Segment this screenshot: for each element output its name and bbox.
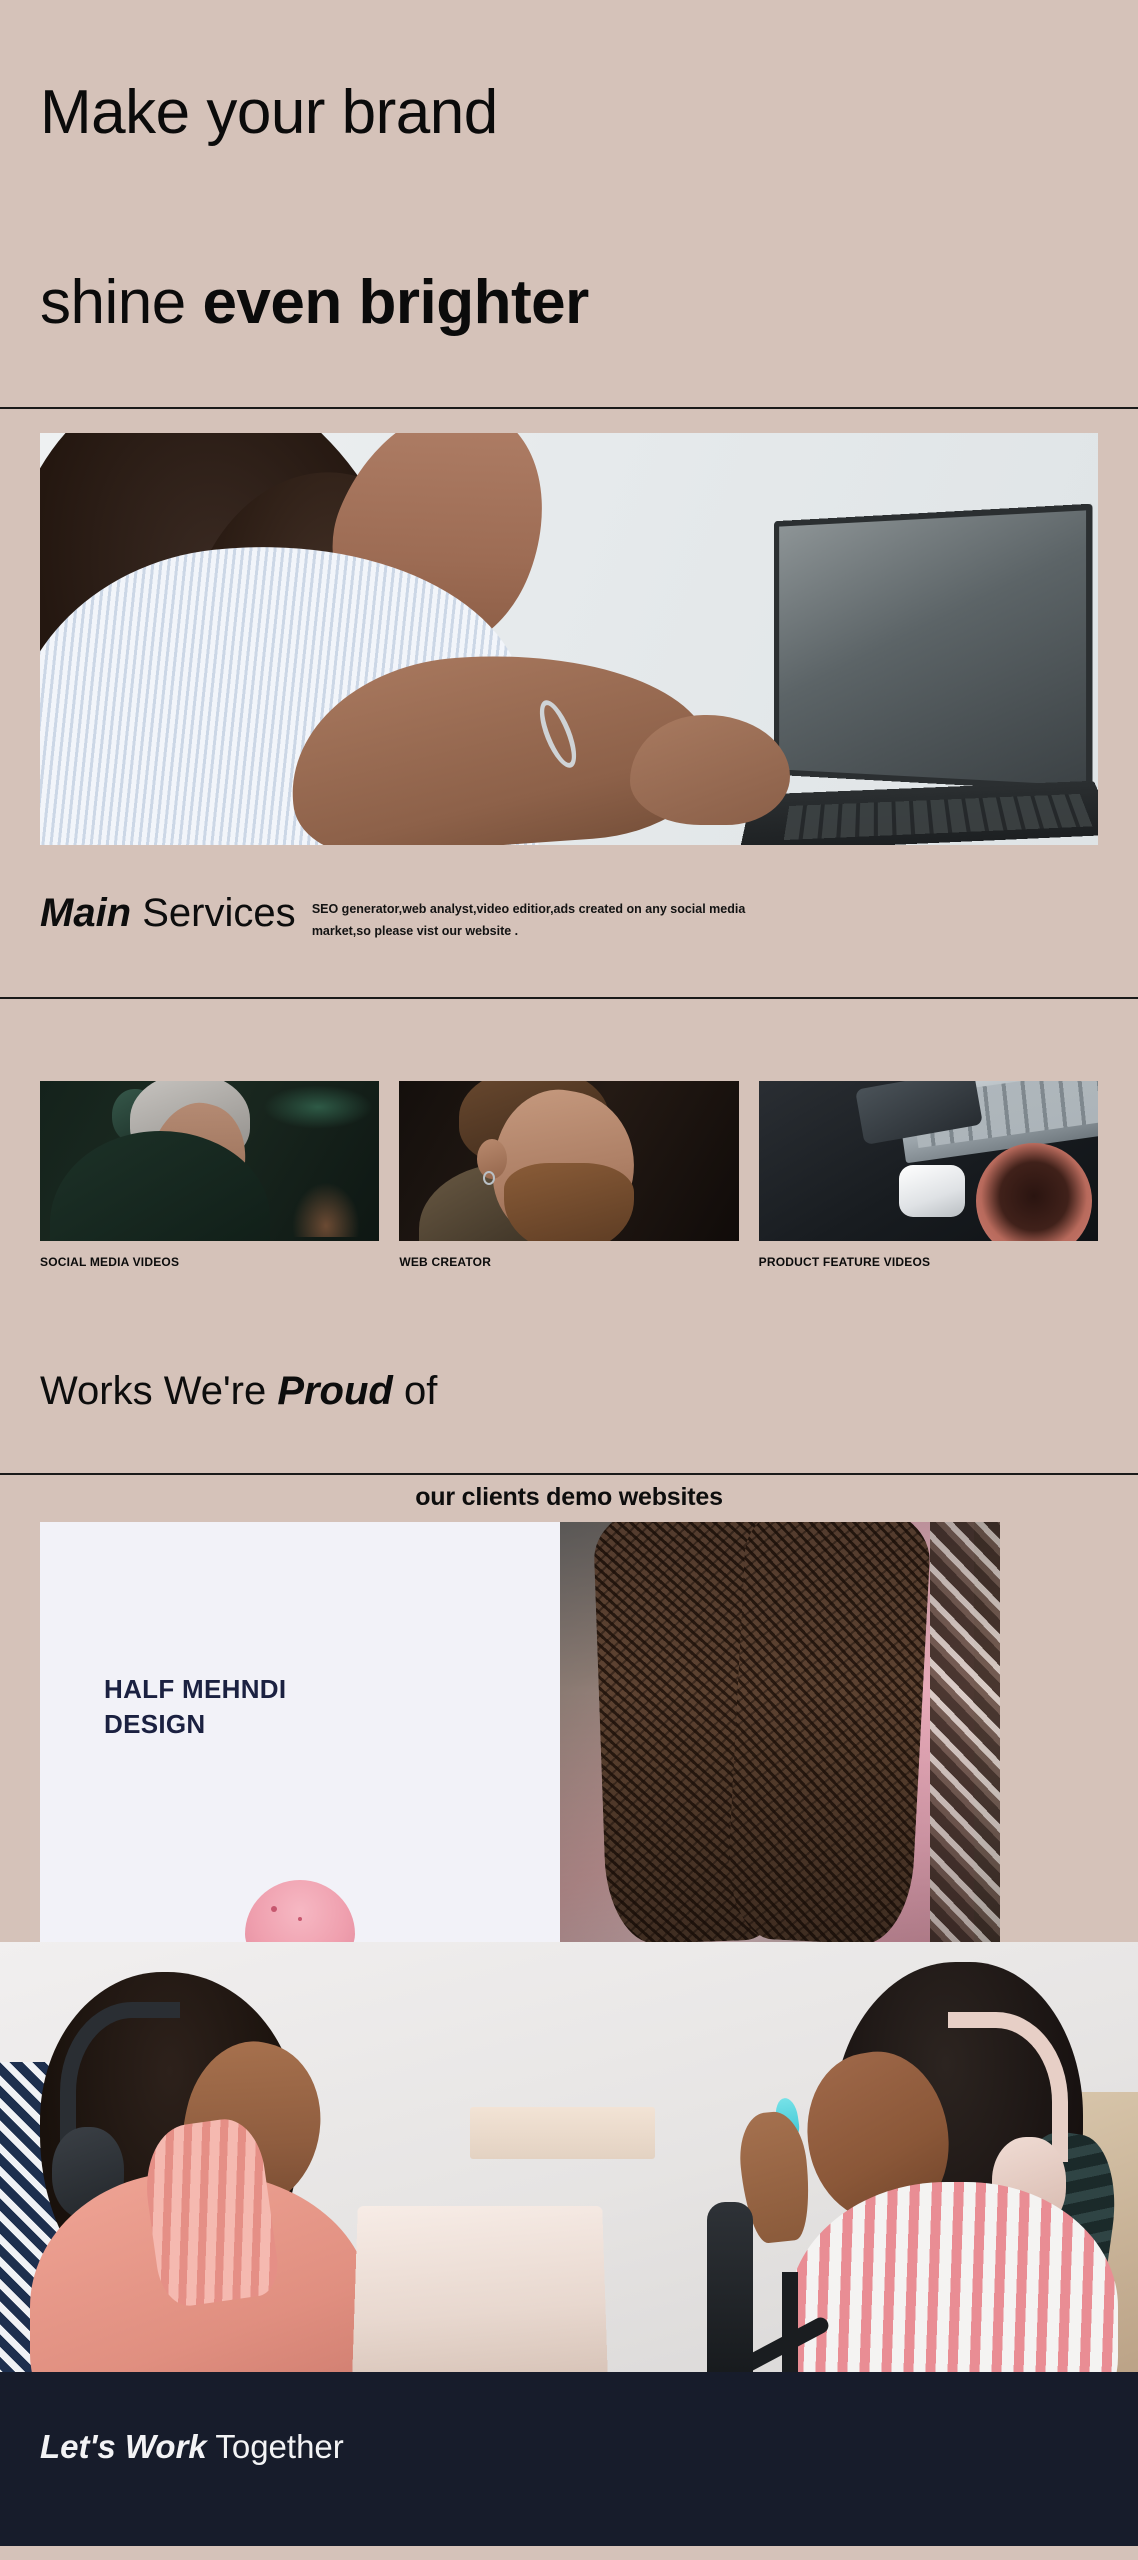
decor-foliage [291, 1181, 361, 1237]
landing-page: Make your brand shine even brighter Main… [0, 0, 1138, 2546]
main-services-description: SEO generator,web analyst,video editior,… [312, 891, 762, 943]
service-card-label: WEB CREATOR [399, 1255, 738, 1269]
hero-heading-section: Make your brand shine even brighter [0, 0, 1138, 407]
service-cards-grid: SOCIAL MEDIA VIDEOS WEB CREATOR PRODUCT [0, 999, 1138, 1269]
service-card-image-web-creator [399, 1081, 738, 1241]
decor-beard [504, 1163, 634, 1241]
service-card-image-social-media-videos [40, 1081, 379, 1241]
service-card-product-feature-videos[interactable]: PRODUCT FEATURE VIDEOS [759, 1081, 1098, 1269]
portfolio-section: HALF MEHNDI DESIGN [0, 1522, 1138, 1942]
main-services-title-em: Main [40, 891, 131, 935]
page-title: Make your brand shine even brighter [40, 18, 1098, 397]
service-card-web-creator[interactable]: WEB CREATOR [399, 1081, 738, 1269]
decor-notepad [470, 2107, 655, 2159]
footer: Let's Work Together [0, 2372, 1138, 2546]
service-card-social-media-videos[interactable]: SOCIAL MEDIA VIDEOS [40, 1081, 379, 1269]
portfolio-card-text: HALF MEHNDI DESIGN [40, 1522, 560, 1942]
podcast-banner-image [0, 1942, 1138, 2372]
hero-image [40, 433, 1098, 845]
portfolio-card-image [560, 1522, 1000, 1942]
hero-line-2-strong: even brighter [202, 268, 588, 337]
hero-line-1: Make your brand [40, 81, 1098, 144]
main-services-title: Main Services [40, 891, 296, 935]
main-services-section: Main Services SEO generator,web analyst,… [0, 845, 1138, 997]
portfolio-card-title: HALF MEHNDI DESIGN [104, 1672, 560, 1742]
works-title-pre: Works We're [40, 1369, 277, 1413]
works-section-heading: Works We're Proud of [0, 1269, 1138, 1473]
works-title-em: Proud [277, 1369, 393, 1413]
hero-image-section [0, 409, 1138, 845]
footer-title: Let's Work Together [40, 2428, 1098, 2466]
works-title-post: of [393, 1369, 437, 1413]
service-card-image-product-feature-videos [759, 1081, 1098, 1241]
hero-line-2: shine even brighter [40, 208, 1098, 334]
microphone-icon [707, 2202, 753, 2372]
earbuds-case-icon [899, 1165, 965, 1217]
decor-laptop [352, 2206, 608, 2372]
coffee-cup-icon [976, 1143, 1092, 1241]
service-card-label: SOCIAL MEDIA VIDEOS [40, 1255, 379, 1269]
works-subtitle: our clients demo websites [0, 1475, 1138, 1522]
works-title: Works We're Proud of [40, 1369, 1098, 1413]
decor-shading [560, 1522, 1000, 1942]
service-card-label: PRODUCT FEATURE VIDEOS [759, 1255, 1098, 1269]
hero-line-2-light: shine [40, 268, 202, 337]
main-services-title-rest: Services [131, 891, 296, 935]
decor-glow [263, 1085, 373, 1129]
hero-image-laptop-screen [774, 504, 1093, 793]
footer-title-rest: Together [207, 2428, 344, 2465]
footer-title-em: Let's Work [40, 2428, 207, 2465]
decor-mic-stand [782, 2272, 798, 2372]
portfolio-card-half-mehndi-design[interactable]: HALF MEHNDI DESIGN [40, 1522, 1000, 1942]
